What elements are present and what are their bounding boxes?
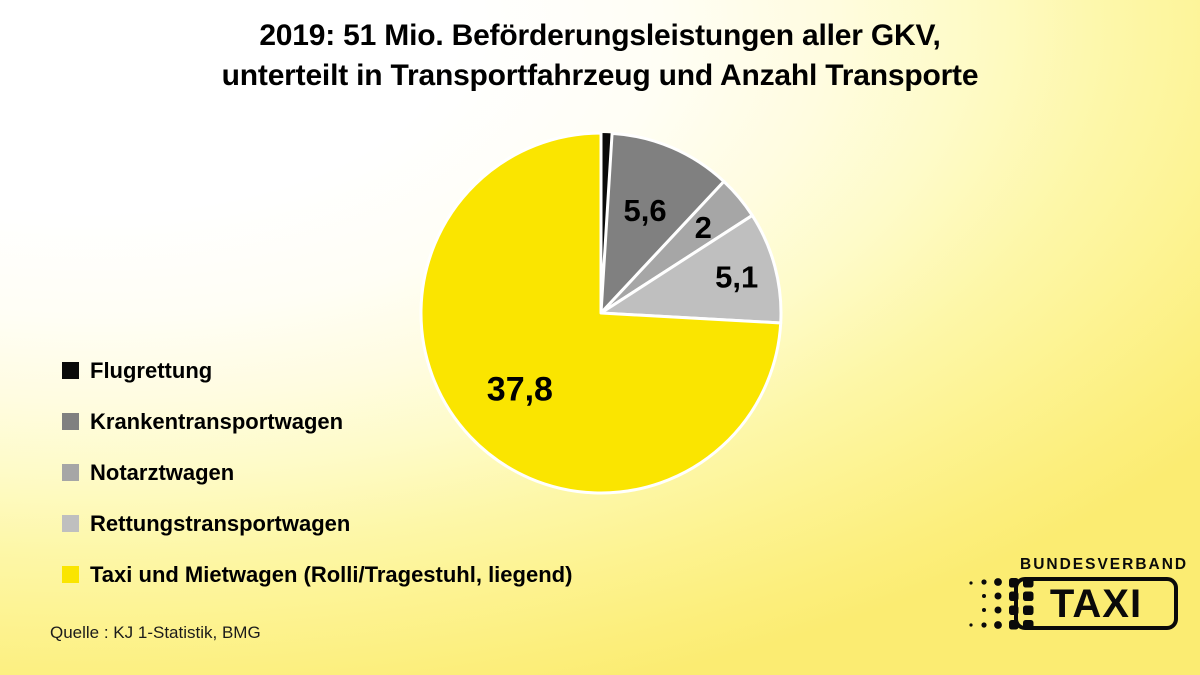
logo-plate: TAXI	[1014, 577, 1178, 630]
legend-item-label: Notarztwagen	[90, 461, 234, 485]
legend-swatch	[62, 362, 79, 379]
legend-swatch	[62, 515, 79, 532]
chart-title: 2019: 51 Mio. Beförderungsleistungen all…	[0, 16, 1200, 96]
legend-item-label: Taxi und Mietwagen (Rolli/Tragestuhl, li…	[90, 563, 572, 587]
legend-item[interactable]: Krankentransportwagen	[62, 396, 742, 447]
chart-legend: FlugrettungKrankentransportwagenNotarztw…	[62, 345, 742, 600]
pie-slice-label: 5,1	[715, 260, 758, 295]
logo-word: TAXI	[1018, 581, 1174, 626]
chart-canvas: 2019: 51 Mio. Beförderungsleistungen all…	[0, 0, 1200, 675]
legend-item-label: Flugrettung	[90, 359, 212, 383]
bundesverband-taxi-logo: BUNDESVERBAND	[968, 556, 1180, 638]
source-note: Quelle : KJ 1-Statistik, BMG	[50, 622, 261, 644]
pie-slice-label: 5,6	[624, 193, 667, 228]
chart-title-line-2: unterteilt in Transportfahrzeug und Anza…	[0, 56, 1200, 96]
legend-swatch	[62, 413, 79, 430]
legend-item-label: Rettungstransportwagen	[90, 512, 350, 536]
legend-swatch	[62, 464, 79, 481]
logo-top-text: BUNDESVERBAND	[1020, 556, 1188, 574]
legend-item[interactable]: Rettungstransportwagen	[62, 498, 742, 549]
legend-item[interactable]: Notarztwagen	[62, 447, 742, 498]
legend-item[interactable]: Taxi und Mietwagen (Rolli/Tragestuhl, li…	[62, 549, 742, 600]
legend-swatch	[62, 566, 79, 583]
pie-slice-label: 2	[695, 210, 712, 245]
legend-item[interactable]: Flugrettung	[62, 345, 742, 396]
chart-title-line-1: 2019: 51 Mio. Beförderungsleistungen all…	[0, 16, 1200, 56]
legend-item-label: Krankentransportwagen	[90, 410, 343, 434]
